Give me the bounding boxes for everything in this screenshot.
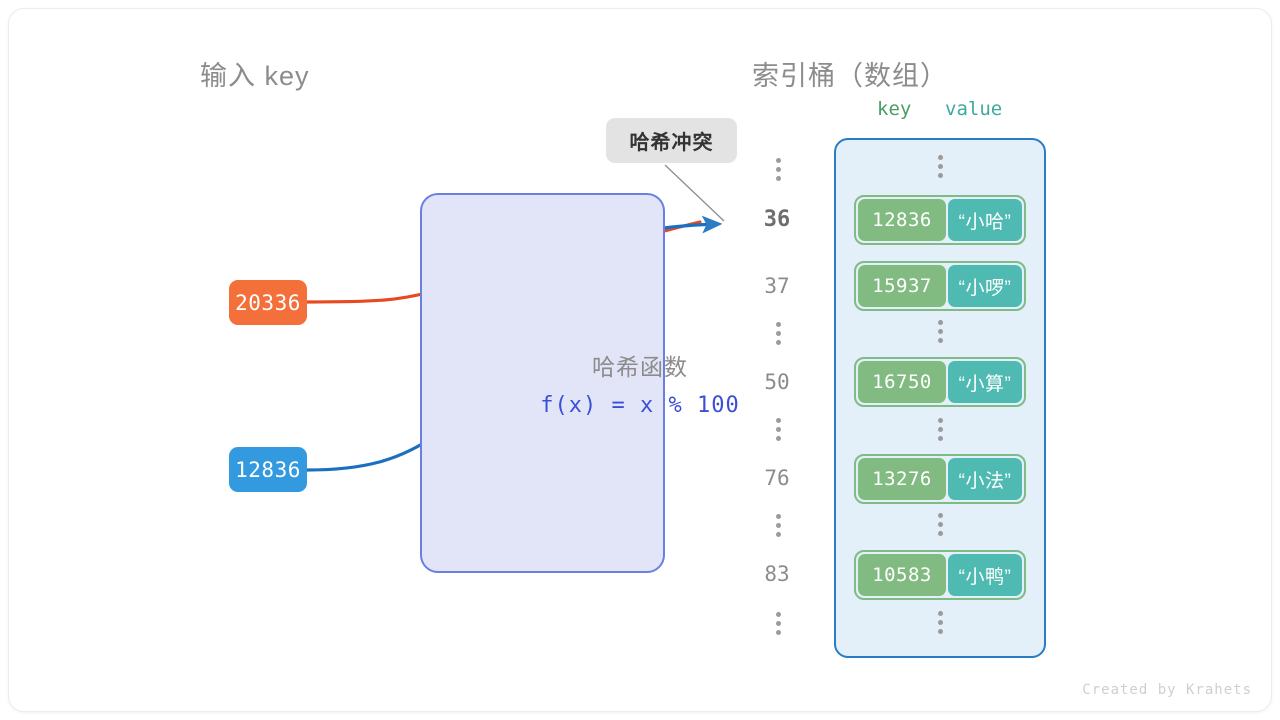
index-value-76: 76 [752, 466, 802, 490]
index-ellipsis [771, 322, 785, 345]
column-header-key: key [877, 98, 911, 120]
hash-function-formula: f(x) = x % 100 [0, 393, 1280, 418]
hash-collision-label: 哈希冲突 [630, 126, 714, 155]
bucket-ellipsis [933, 513, 947, 536]
entry-value: “小法” [948, 458, 1022, 500]
index-ellipsis [771, 158, 785, 181]
header-input-key: 输入 key [200, 54, 310, 93]
diagram-canvas: 输入 key 索引 桶（数组） key value 20336 12836 哈希… [0, 0, 1280, 720]
entry-key: 13276 [858, 458, 946, 500]
index-value-83: 83 [752, 562, 802, 586]
entry-key: 12836 [858, 199, 946, 241]
header-bucket: 桶（数组） [808, 54, 948, 93]
index-value-36: 36 [752, 207, 802, 232]
bucket-entry-12836[interactable]: 12836“小哈” [854, 195, 1026, 245]
column-header-value: value [945, 98, 1002, 120]
bucket-entry-13276[interactable]: 13276“小法” [854, 454, 1026, 504]
index-ellipsis [771, 514, 785, 537]
hash-collision-callout: 哈希冲突 [606, 118, 737, 163]
index-ellipsis [771, 418, 785, 441]
entry-key: 16750 [858, 361, 946, 403]
header-index: 索引 [752, 54, 808, 93]
entry-value: “小哈” [948, 199, 1022, 241]
hash-function-box [420, 193, 665, 573]
entry-key: 10583 [858, 554, 946, 596]
index-value-37: 37 [752, 274, 802, 298]
entry-value: “小啰” [948, 265, 1022, 307]
input-key-label: 12836 [235, 458, 301, 482]
bucket-ellipsis [933, 155, 947, 178]
input-key-label: 20336 [235, 291, 301, 315]
entry-value: “小鸭” [948, 554, 1022, 596]
bucket-entry-10583[interactable]: 10583“小鸭” [854, 550, 1026, 600]
entry-key: 15937 [858, 265, 946, 307]
hash-function-title: 哈希函数 [0, 348, 1280, 382]
bucket-entry-15937[interactable]: 15937“小啰” [854, 261, 1026, 311]
bucket-ellipsis [933, 611, 947, 634]
index-ellipsis [771, 612, 785, 635]
bucket-ellipsis [933, 320, 947, 343]
input-key-chip-20336[interactable]: 20336 [229, 280, 307, 325]
entry-value: “小算” [948, 361, 1022, 403]
bucket-entry-16750[interactable]: 16750“小算” [854, 357, 1026, 407]
bucket-ellipsis [933, 418, 947, 441]
input-key-chip-12836[interactable]: 12836 [229, 447, 307, 492]
credit-text: Created by Krahets [1082, 682, 1252, 698]
index-value-50: 50 [752, 370, 802, 394]
